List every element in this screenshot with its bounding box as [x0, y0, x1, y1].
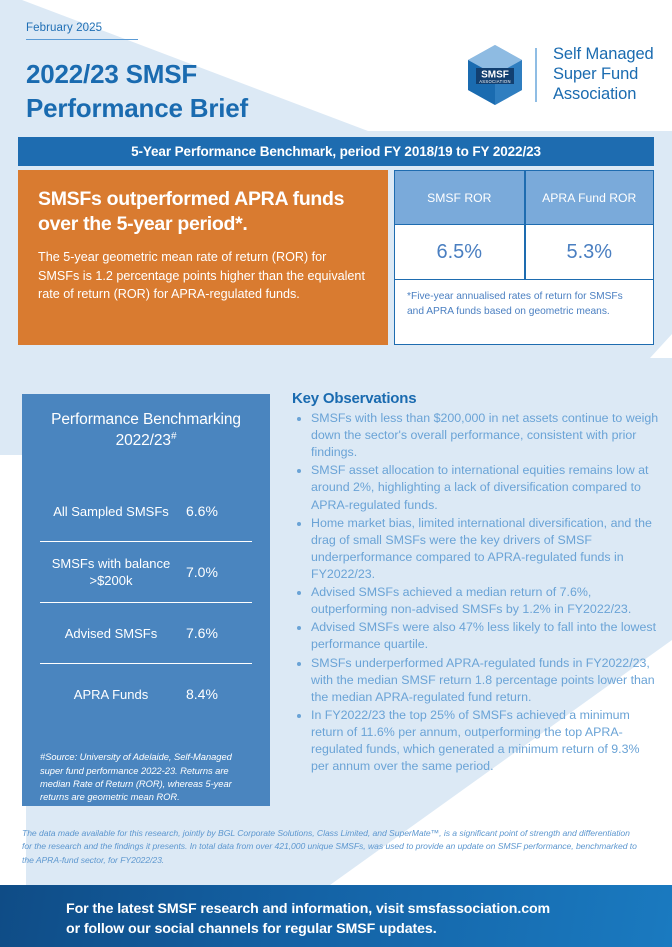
ror-panel: SMSF ROR 6.5% APRA Fund ROR 5.3% *Five-y… — [394, 170, 654, 345]
logo-wordmark-line-2: Super Fund — [553, 65, 654, 85]
page-title-line-1: 2022/23 SMSF — [26, 57, 446, 91]
footer-message-line-1: For the latest SMSF research and informa… — [66, 899, 626, 919]
benchmark-band-label: 5-Year Performance Benchmark, period FY … — [131, 144, 541, 159]
list-item: Advised SMSFs were also 47% less likely … — [292, 619, 660, 653]
table-row: Advised SMSFs 7.6% — [40, 602, 252, 663]
callout-panel: SMSFs outperformed APRA funds over the 5… — [18, 170, 388, 345]
stat-card-title-line-2: 2022/23 — [116, 432, 171, 449]
stat-rows: All Sampled SMSFs 6.6% SMSFs with balanc… — [40, 481, 252, 724]
ror-column-smsf: SMSF ROR 6.5% — [394, 170, 524, 280]
footer-message-line-2: or follow our social channels for regula… — [66, 919, 626, 939]
callout-body: The 5-year geometric mean rate of return… — [38, 248, 368, 303]
ror-value-smsf: 6.5% — [394, 224, 524, 280]
table-row: APRA Funds 8.4% — [40, 663, 252, 724]
disclaimer-text: The data made available for this researc… — [22, 827, 642, 867]
benchmark-band: 5-Year Performance Benchmark, period FY … — [18, 137, 654, 166]
ror-header-apra: APRA Fund ROR — [525, 170, 655, 224]
ror-header-smsf: SMSF ROR — [394, 170, 524, 224]
list-item: In FY2022/23 the top 25% of SMSFs achiev… — [292, 707, 660, 775]
stat-value: 6.6% — [186, 503, 252, 519]
stat-value: 7.0% — [186, 564, 252, 580]
ror-value-apra: 5.3% — [525, 224, 655, 280]
stat-value: 7.6% — [186, 625, 252, 641]
svg-text:ASSOCIATION: ASSOCIATION — [479, 79, 511, 84]
logo-wordmark: Self Managed Super Fund Association — [547, 45, 654, 105]
stat-card-title-line-1: Performance Benchmarking — [51, 411, 241, 428]
page-title-line-2: Performance Brief — [26, 91, 446, 125]
stat-label: Advised SMSFs — [40, 625, 186, 642]
logo-wordmark-line-3: Association — [553, 85, 654, 105]
list-item: SMSFs underperformed APRA-regulated fund… — [292, 655, 660, 706]
ror-column-apra: APRA Fund ROR 5.3% — [524, 170, 655, 280]
list-item: Home market bias, limited international … — [292, 515, 660, 583]
stat-value: 8.4% — [186, 686, 252, 702]
key-observations-list: SMSFs with less than $200,000 in net ass… — [292, 410, 660, 775]
logo-divider — [535, 48, 537, 102]
footer-message: For the latest SMSF research and informa… — [66, 899, 626, 939]
ror-grid: SMSF ROR 6.5% APRA Fund ROR 5.3% — [394, 170, 654, 280]
key-observations-section: Key Observations SMSFs with less than $2… — [292, 390, 660, 776]
stat-label: SMSFs with balance >$200k — [40, 555, 186, 589]
stat-card-source: #Source: University of Adelaide, Self-Ma… — [40, 750, 252, 803]
ror-footnote: *Five-year annualised rates of return fo… — [394, 280, 654, 345]
page-title: 2022/23 SMSF Performance Brief — [26, 57, 446, 125]
infographic-page: February 2025 2022/23 SMSF Performance B… — [0, 0, 672, 947]
callout-heading: SMSFs outperformed APRA funds over the 5… — [38, 187, 368, 237]
publication-date: February 2025 — [26, 22, 138, 40]
stat-card-title-marker: # — [171, 431, 176, 442]
smsf-hexagon-icon: SMSF ASSOCIATION — [467, 44, 523, 106]
document-header: February 2025 2022/23 SMSF Performance B… — [26, 18, 446, 125]
stat-card-title: Performance Benchmarking 2022/23# — [40, 410, 252, 451]
brand-logo: SMSF ASSOCIATION Self Managed Super Fund… — [467, 44, 654, 106]
list-item: SMSFs with less than $200,000 in net ass… — [292, 410, 660, 461]
list-item: SMSF asset allocation to international e… — [292, 462, 660, 513]
list-item: Advised SMSFs achieved a median return o… — [292, 584, 660, 618]
table-row: SMSFs with balance >$200k 7.0% — [40, 541, 252, 602]
stat-label: All Sampled SMSFs — [40, 503, 186, 520]
performance-benchmarking-card: Performance Benchmarking 2022/23# All Sa… — [22, 394, 270, 806]
table-row: All Sampled SMSFs 6.6% — [40, 481, 252, 541]
logo-wordmark-line-1: Self Managed — [553, 45, 654, 65]
key-observations-title: Key Observations — [292, 390, 660, 407]
footer-bar: For the latest SMSF research and informa… — [0, 885, 672, 947]
stat-label: APRA Funds — [40, 686, 186, 703]
